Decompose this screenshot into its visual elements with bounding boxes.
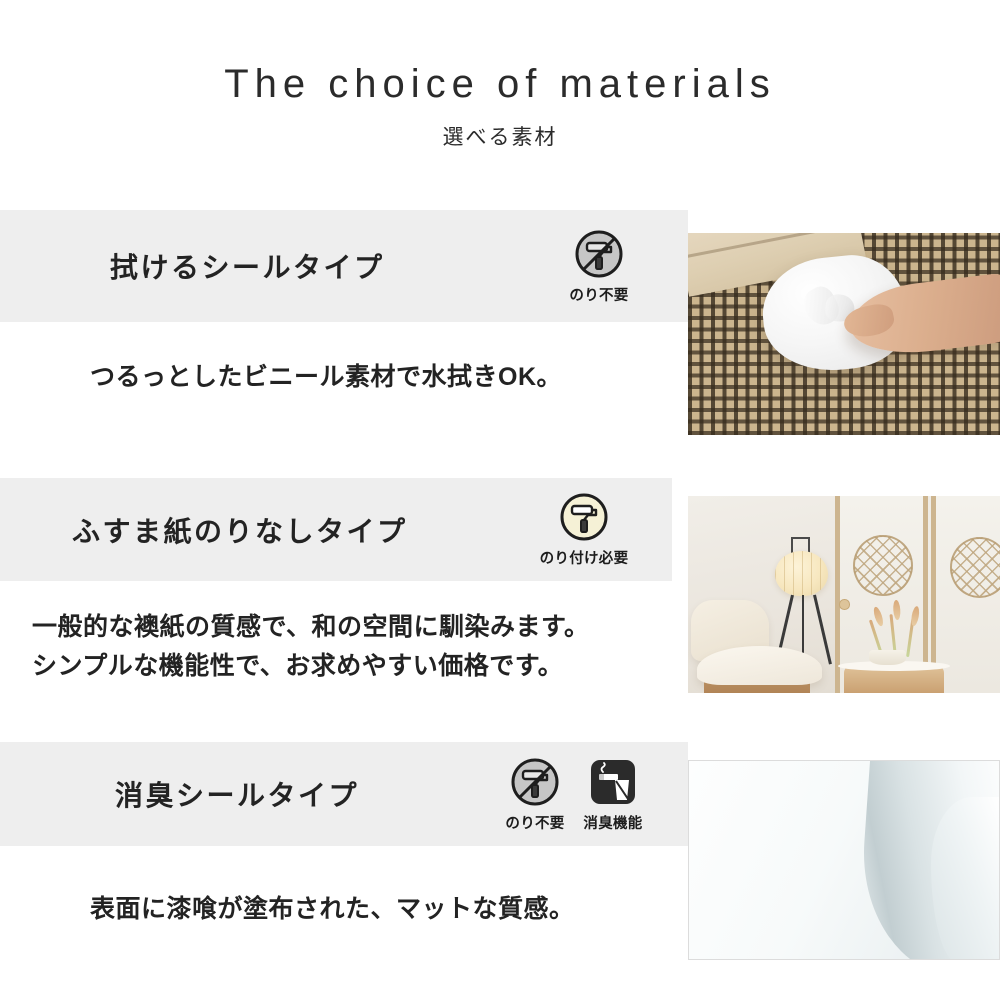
deodorize-icon <box>587 756 639 808</box>
section-badges: のり不要 消臭機能 <box>504 756 644 833</box>
section-band-deodorizing-seal-type: 消臭シールタイプ のり不要 <box>0 742 688 846</box>
section-title: 消臭シールタイプ <box>115 774 359 814</box>
section-badges: のり付け必要 <box>526 491 642 568</box>
badge-no-glue: のり不要 <box>568 228 630 305</box>
section-title: 拭けるシールタイプ <box>110 246 385 286</box>
plant-pot <box>869 650 906 666</box>
section-badges: のり不要 <box>568 228 630 305</box>
wall-knob <box>839 599 850 609</box>
badge-label: 消臭機能 <box>583 812 642 833</box>
badge-no-glue: のり不要 <box>504 756 566 833</box>
badge-glue-required: のり付け必要 <box>526 491 642 568</box>
page-header: The choice of materials 選べる素材 <box>0 0 1000 151</box>
description-line: シンプルな機能性で、お求めやすい価格です。 <box>32 647 590 686</box>
lantern-ribs <box>775 551 828 596</box>
badge-label: のり付け必要 <box>540 547 629 568</box>
glue-roller-icon <box>558 491 610 543</box>
badge-label: のり不要 <box>505 812 564 833</box>
hand-wiping-woven-surface-photo <box>688 233 1000 435</box>
section-title: ふすま紙のりなしタイプ <box>72 510 408 550</box>
materials-choice-page: The choice of materials 選べる素材 拭けるシールタイプ <box>0 0 1000 1000</box>
badge-label: のり不要 <box>569 284 628 305</box>
section-description-fusuma: 一般的な襖紙の質感で、和の空間に馴染みます。 シンプルな機能性で、お求めやすい価… <box>32 608 590 686</box>
page-subtitle: 選べる素材 <box>0 121 1000 151</box>
description-line: 表面に漆喰が塗布された、マットな質感。 <box>90 890 575 929</box>
section-band-fusuma-paper-no-glue-type: ふすま紙のりなしタイプ のり付け必要 <box>0 478 672 581</box>
page-title: The choice of materials <box>0 62 1000 106</box>
no-glue-roller-icon <box>573 228 625 280</box>
description-line: 一般的な襖紙の質感で、和の空間に馴染みます。 <box>32 608 590 647</box>
white-curled-paper-photo <box>688 760 1000 960</box>
japanese-interior-fusuma-photo <box>688 496 1000 693</box>
circular-lattice-motif <box>853 535 912 596</box>
description-line: つるっとしたビニール素材で水拭きOK。 <box>90 358 562 397</box>
section-description-deodorizing: 表面に漆喰が塗布された、マットな質感。 <box>90 890 575 929</box>
no-glue-roller-icon <box>509 756 561 808</box>
section-band-wipeable-seal-type: 拭けるシールタイプ のり不要 <box>0 210 688 322</box>
paper-curl-highlight <box>931 797 999 960</box>
badge-deodorize: 消臭機能 <box>582 756 644 833</box>
section-description-wipeable: つるっとしたビニール素材で水拭きOK。 <box>90 358 562 397</box>
paper-lantern-shade <box>775 551 828 596</box>
